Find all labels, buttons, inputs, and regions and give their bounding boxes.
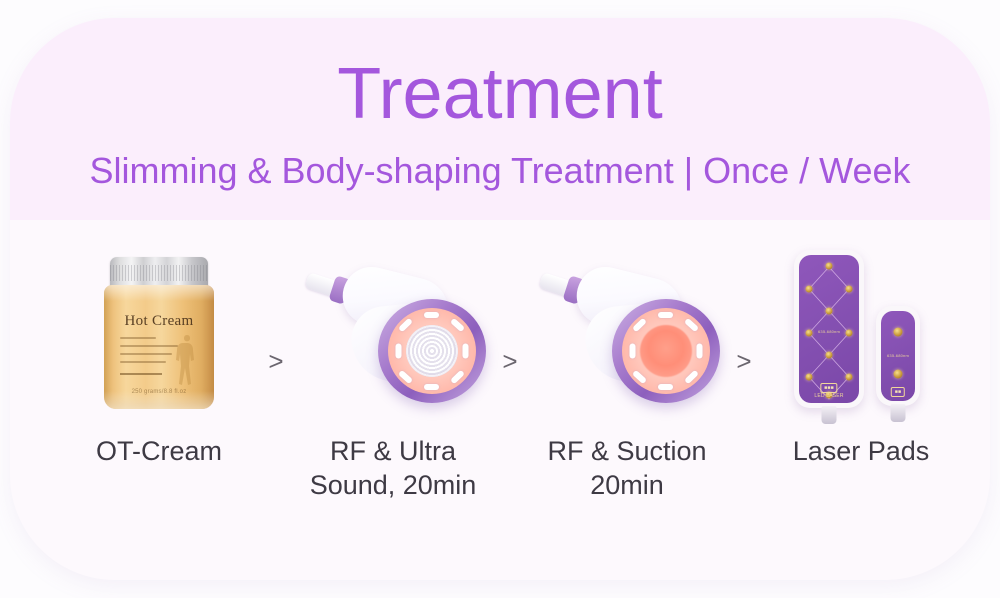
led-node: [845, 285, 852, 292]
treatment-steps-row: Hot Cream 250 grams/8.8 fl.oz OT-Cre: [70, 238, 950, 558]
laser-pad-wavelength-label: 635-680nm: [818, 329, 840, 334]
chevron-right-icon-1: >: [266, 348, 286, 374]
handpiece-ring: [378, 299, 486, 403]
laser-pad-small: 635-680nm ■■: [876, 306, 920, 406]
handpiece-treatment-face: [388, 308, 476, 394]
led-node: [894, 369, 903, 378]
face-slot: [398, 317, 413, 332]
led-node: [826, 263, 833, 270]
laser-pad-large-connector: [822, 406, 837, 424]
face-slot: [424, 384, 439, 390]
laser-pads-icon: 635-680nm ■■■ LED LASER: [772, 246, 950, 421]
laser-pad-small-brand-mark: ■■: [891, 387, 905, 397]
laser-pad-large-surface: 635-680nm ■■■ LED LASER: [799, 255, 859, 403]
face-slot: [396, 343, 402, 358]
face-slot: [697, 343, 703, 358]
face-slot: [632, 317, 647, 332]
led-node: [845, 374, 852, 381]
ultrasound-rings-icon: [406, 325, 458, 377]
handpiece-ring: [612, 299, 720, 403]
step-ot-cream: Hot Cream 250 grams/8.8 fl.oz OT-Cre: [70, 238, 248, 468]
led-node: [806, 329, 813, 336]
treatment-infographic: Treatment Slimming & Body-shaping Treatm…: [0, 0, 1000, 598]
step-laser-pads: 635-680nm ■■■ LED LASER: [772, 238, 950, 468]
face-slot: [684, 369, 699, 384]
suction-glow-icon: [640, 325, 692, 377]
card-header-band: Treatment Slimming & Body-shaping Treatm…: [10, 18, 990, 220]
face-slot: [658, 312, 673, 318]
jar-body: Hot Cream 250 grams/8.8 fl.oz: [104, 285, 214, 409]
treatment-card: Treatment Slimming & Body-shaping Treatm…: [10, 18, 990, 580]
jar-label-weight: 250 grams/8.8 fl.oz: [104, 389, 214, 395]
face-slot: [398, 369, 413, 383]
led-node: [826, 307, 833, 314]
cream-jar-icon: Hot Cream 250 grams/8.8 fl.oz: [104, 257, 214, 409]
step-caption-rf-ultrasound: RF & Ultra Sound, 20min: [310, 434, 477, 502]
laser-pad-large: 635-680nm ■■■ LED LASER: [794, 250, 864, 408]
led-node: [894, 328, 903, 337]
laser-pad-brand-mark: ■■■: [820, 383, 838, 393]
jar-label-title: Hot Cream: [104, 313, 214, 330]
handpiece-treatment-face: [622, 308, 710, 394]
led-node: [806, 285, 813, 292]
page-title: Treatment: [10, 54, 990, 134]
chevron-right-icon-2: >: [500, 348, 520, 374]
step-caption-ot-cream: OT-Cream: [96, 434, 222, 468]
jar-silhouette-icon: [172, 331, 202, 389]
face-slot: [658, 384, 673, 390]
step-visual-laser-pads: 635-680nm ■■■ LED LASER: [772, 238, 950, 428]
face-slot: [450, 317, 465, 331]
laser-pad-small-surface: 635-680nm ■■: [881, 311, 915, 401]
step-caption-rf-suction: RF & Suction 20min: [547, 434, 706, 502]
face-slot: [450, 369, 465, 384]
led-node: [806, 374, 813, 381]
laser-pad-small-wavelength-label: 635-680nm: [887, 353, 909, 358]
laser-pad-brand: ■■■ LED LASER: [814, 383, 843, 399]
step-visual-rf-ultrasound: [304, 238, 482, 428]
face-slot: [684, 317, 699, 331]
face-slot: [632, 369, 647, 383]
step-rf-suction: RF & Suction 20min: [538, 238, 716, 502]
led-node: [845, 329, 852, 336]
laser-pad-small-connector: [891, 404, 906, 422]
face-slot: [463, 343, 469, 358]
laser-pad-brand-text: LED LASER: [814, 393, 843, 399]
rf-suction-handpiece-icon: [538, 251, 716, 416]
step-visual-rf-suction: [538, 238, 716, 428]
step-caption-laser-pads: Laser Pads: [793, 434, 930, 468]
jar-label-organic: [120, 373, 162, 375]
face-slot: [424, 312, 439, 318]
face-slot: [630, 343, 636, 358]
chevron-right-icon-3: >: [734, 348, 754, 374]
step-rf-ultrasound: RF & Ultra Sound, 20min: [304, 238, 482, 502]
step-visual-cream-jar: Hot Cream 250 grams/8.8 fl.oz: [70, 238, 248, 428]
led-node: [826, 352, 833, 359]
rf-ultrasound-handpiece-icon: [304, 251, 482, 416]
laser-pad-small-brand: ■■: [891, 387, 905, 397]
page-subtitle: Slimming & Body-shaping Treatment | Once…: [10, 148, 990, 194]
